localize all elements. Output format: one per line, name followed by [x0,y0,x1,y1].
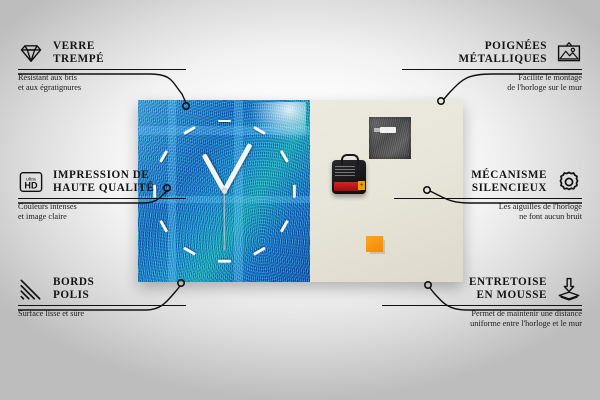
feature-desc-line1: Surface lisse et sûre [18,309,233,319]
picture-frame-hanger-icon [556,40,582,66]
feature-desc-line1: Permet de maintenir une distance [367,309,582,319]
feature-poignees-metalliques[interactable]: POIGNÉES MÉTALLIQUES Facilite le montage… [367,40,582,93]
feature-desc-line1: Les aiguilles de l'horloge [367,202,582,212]
arrow-down-onto-pad-icon [556,276,582,302]
metal-hanger-plate [369,117,411,159]
feature-bords-polis[interactable]: BORDS POLIS Surface lisse et sûre [18,276,233,319]
quartz-movement [332,160,366,194]
feature-title-line1: MÉCANISME [471,169,547,182]
gear-icon [556,169,582,195]
feature-desc-line2: ne font aucun bruit [367,212,582,222]
hour-marker [218,260,231,263]
feature-mecanisme-silencieux[interactable]: MÉCANISME SILENCIEUX Les aiguilles de l'… [367,169,582,222]
feature-rule [18,198,186,199]
feature-title-line2: HAUTE QUALITÉ [53,182,154,195]
feature-title-line1: POIGNÉES [458,40,547,53]
feature-title-line1: ENTRETOISE [469,276,547,289]
feature-title-line2: POLIS [53,289,94,302]
feature-title-line1: VERRE [53,40,104,53]
movement-label [335,166,355,177]
infographic-canvas: VERRE TREMPÉ Résistant aux bris et aux é… [0,0,600,400]
feature-rule [394,198,582,199]
ultra-hd-main-text: HD [24,181,38,191]
feature-desc-line1: Facilite le montage [367,73,582,83]
feature-rule [402,69,582,70]
hour-marker [293,184,296,197]
glass-highlight [250,102,306,142]
feature-desc-line1: Couleurs intenses [18,202,233,212]
battery [334,182,361,191]
feature-title-line1: BORDS [53,276,94,289]
hanger-loop-icon [341,154,359,165]
feature-desc-line2: et image claire [18,212,233,222]
feature-rule [382,305,582,306]
feature-title-line1: IMPRESSION DE [53,169,154,182]
feature-entretoise-en-mousse[interactable]: ENTRETOISE EN MOUSSE Permet de maintenir… [367,276,582,329]
feature-title-line2: SILENCIEUX [471,182,547,195]
feature-verre-trempe[interactable]: VERRE TREMPÉ Résistant aux bris et aux é… [18,40,233,93]
feature-rule [18,69,186,70]
polished-edge-icon [18,276,44,302]
foam-spacer [366,236,383,252]
feature-desc-line2: de l'horloge sur le mur [367,83,582,93]
feature-desc-line1: Résistant aux bris [18,73,233,83]
feature-rule [18,305,186,306]
feature-title-line2: MÉTALLIQUES [458,53,547,66]
feature-title-line2: TREMPÉ [53,53,104,66]
feature-desc-line2: uniforme entre l'horloge et le mur [367,319,582,329]
feature-title-line2: EN MOUSSE [469,289,547,302]
diamond-icon [18,40,44,66]
feature-impression-haute-qualite[interactable]: ultra HD IMPRESSION DE HAUTE QUALITÉ Cou… [18,169,233,222]
hour-marker [218,120,231,123]
ultra-hd-badge-icon: ultra HD [18,169,44,195]
feature-desc-line2: et aux égratignures [18,83,233,93]
